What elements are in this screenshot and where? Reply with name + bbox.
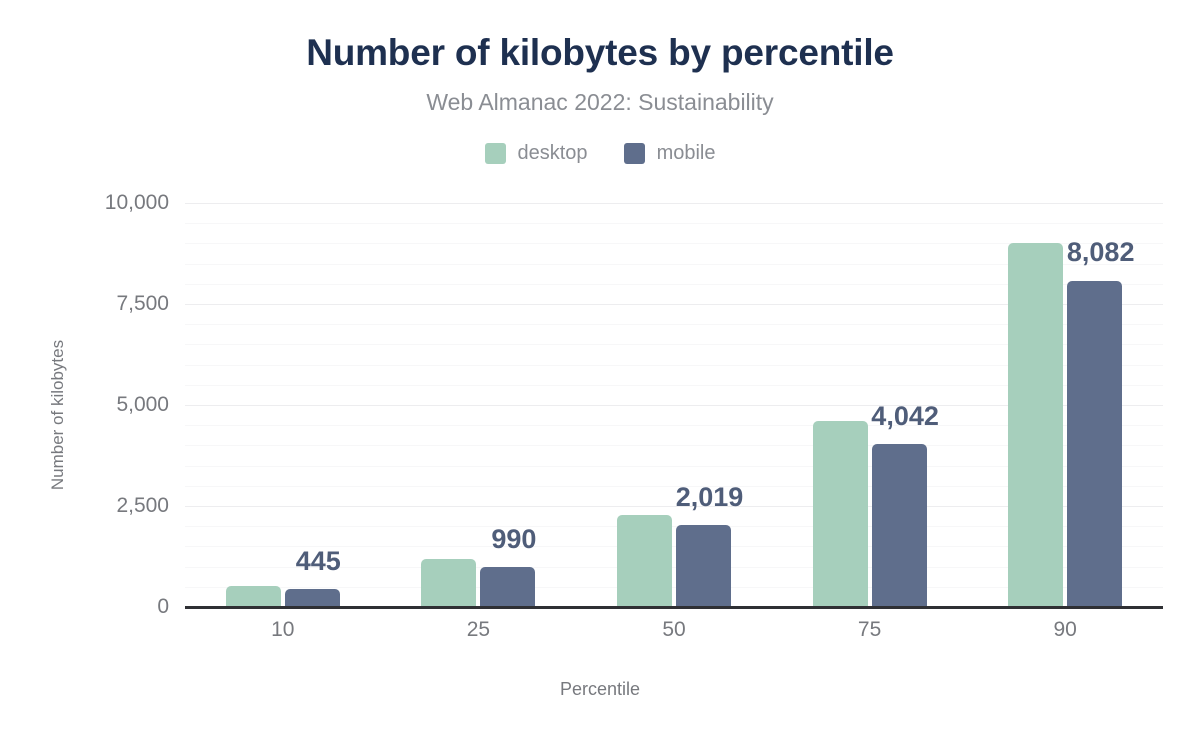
data-label-p75: 4,042 xyxy=(871,401,939,432)
chart-legend: desktop mobile xyxy=(0,142,1200,165)
x-axis-tick-label: 10 xyxy=(213,618,353,642)
bar-desktop-p75[interactable] xyxy=(813,421,868,607)
x-axis-tick-label: 90 xyxy=(995,618,1135,642)
legend-item-mobile[interactable]: mobile xyxy=(624,142,716,165)
y-axis-tick-label: 5,000 xyxy=(25,393,169,417)
chart-container: Number of kilobytes by percentile Web Al… xyxy=(0,0,1200,742)
bar-desktop-p90[interactable] xyxy=(1008,243,1063,607)
data-label-p90: 8,082 xyxy=(1067,237,1135,268)
bar-mobile-p90[interactable] xyxy=(1067,281,1122,608)
bar-mobile-p10[interactable] xyxy=(285,589,340,607)
chart-title: Number of kilobytes by percentile xyxy=(0,32,1200,74)
y-axis-tick-label: 2,500 xyxy=(25,494,169,518)
legend-swatch-desktop xyxy=(485,143,506,164)
x-axis-title: Percentile xyxy=(0,679,1200,700)
gridline-minor xyxy=(185,223,1163,224)
bar-desktop-p25[interactable] xyxy=(421,559,476,607)
bar-mobile-p75[interactable] xyxy=(872,444,927,607)
gridline-major xyxy=(185,203,1163,204)
legend-label-desktop: desktop xyxy=(518,142,588,165)
bar-desktop-p10[interactable] xyxy=(226,586,281,607)
chart-subtitle: Web Almanac 2022: Sustainability xyxy=(0,89,1200,116)
y-axis-tick-label: 0 xyxy=(25,595,169,619)
bar-desktop-p50[interactable] xyxy=(617,515,672,607)
x-axis-tick-label: 25 xyxy=(408,618,548,642)
x-axis-tick-label: 50 xyxy=(604,618,744,642)
bar-mobile-p50[interactable] xyxy=(676,525,731,607)
data-label-p25: 990 xyxy=(491,524,536,555)
legend-label-mobile: mobile xyxy=(657,142,716,165)
legend-item-desktop[interactable]: desktop xyxy=(485,142,588,165)
y-axis-tick-label: 10,000 xyxy=(25,191,169,215)
y-axis-title: Number of kilobytes xyxy=(48,295,68,535)
y-axis-tick-label: 7,500 xyxy=(25,292,169,316)
legend-swatch-mobile xyxy=(624,143,645,164)
data-label-p10: 445 xyxy=(296,546,341,577)
x-axis-line xyxy=(185,606,1163,609)
data-label-p50: 2,019 xyxy=(676,482,744,513)
bar-mobile-p25[interactable] xyxy=(480,567,535,607)
x-axis-tick-label: 75 xyxy=(800,618,940,642)
